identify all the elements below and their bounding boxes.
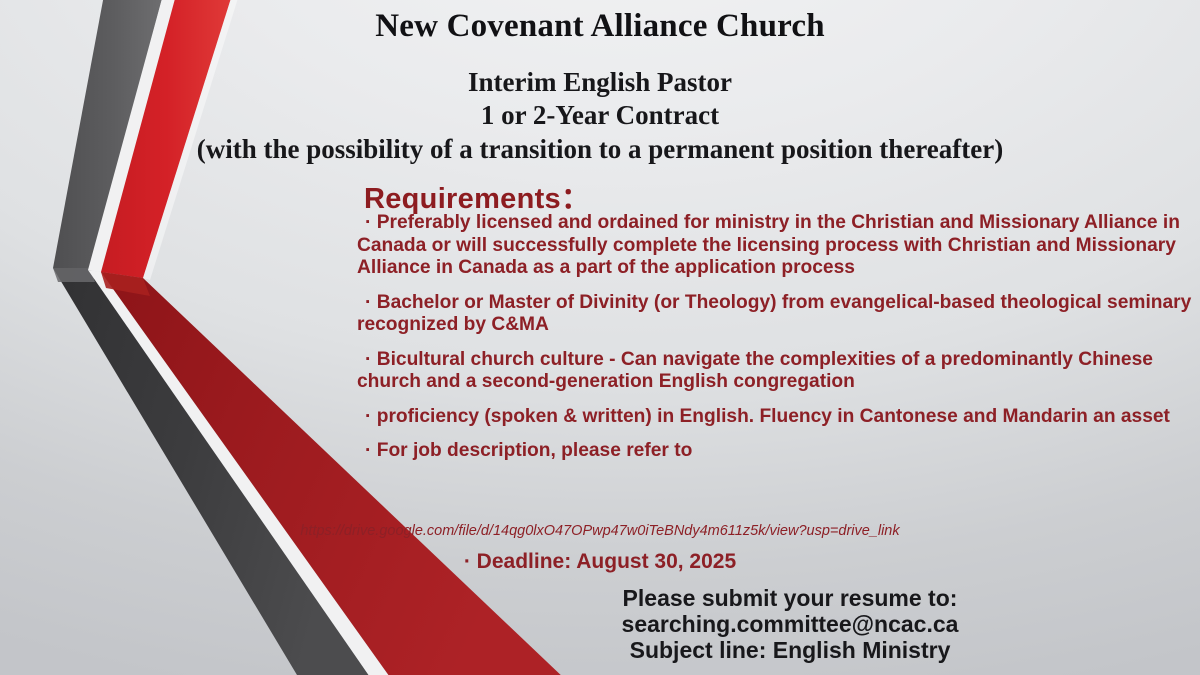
contact-block: Please submit your resume to: searching.… (380, 585, 1200, 663)
position-title-line: Interim English Pastor (0, 66, 1200, 99)
slide-canvas: New Covenant Alliance Church Interim Eng… (0, 0, 1200, 675)
requirement-item: · Bicultural church culture - Can naviga… (357, 349, 1197, 394)
requirements-heading: Requirements： (364, 175, 590, 217)
deadline-line: · Deadline: August 30, 2025 (0, 550, 1200, 574)
requirement-item: · proficiency (spoken & written) in Engl… (357, 406, 1197, 429)
submit-instruction-line: Please submit your resume to: (380, 585, 1200, 611)
requirements-list: · Preferably licensed and ordained for m… (357, 212, 1197, 463)
subject-line-instruction: Subject line: English Ministry (380, 637, 1200, 663)
contact-email[interactable]: searching.committee@ncac.ca (380, 611, 1200, 637)
job-description-link[interactable]: https://drive.google.com/file/d/14qg0lxO… (0, 523, 1200, 539)
transition-note-line: (with the possibility of a transition to… (0, 132, 1200, 166)
page-title: New Covenant Alliance Church (0, 8, 1200, 45)
requirement-item: · For job description, please refer to (357, 440, 1197, 463)
slide-content: New Covenant Alliance Church Interim Eng… (0, 0, 1200, 675)
position-subtitle: Interim English Pastor 1 or 2-Year Contr… (0, 66, 1200, 166)
requirement-item: · Preferably licensed and ordained for m… (357, 212, 1197, 280)
contract-term-line: 1 or 2-Year Contract (0, 99, 1200, 132)
requirement-item: · Bachelor or Master of Divinity (or The… (357, 292, 1197, 337)
